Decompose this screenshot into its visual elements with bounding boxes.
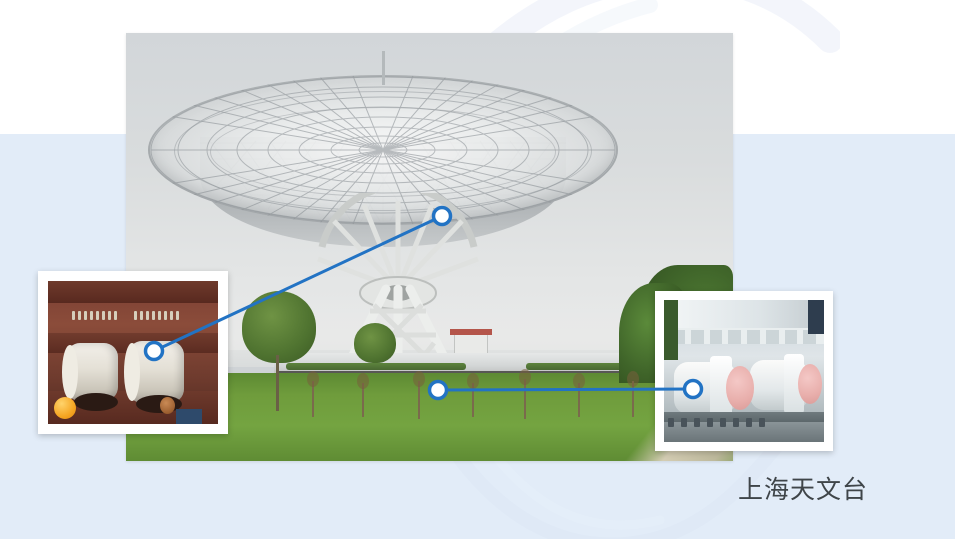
dish-inner-rim-2 <box>210 107 556 197</box>
feed-mast <box>382 51 385 85</box>
sapling-1 <box>312 381 314 417</box>
white-structure-top <box>664 300 824 330</box>
drive-unit-right-flange <box>124 343 140 401</box>
tree-trunk-left <box>276 355 279 411</box>
bolt-row-left <box>72 311 117 320</box>
bolt-row-right <box>134 311 179 320</box>
sky-sliver <box>808 300 824 334</box>
drive-unit-left-shadow <box>74 393 118 411</box>
sapling-2 <box>362 383 364 417</box>
slide-canvas: 上海天文台 <box>0 0 955 539</box>
control-hut-roof <box>450 329 492 335</box>
caption-text: 上海天文台 <box>738 470 868 506</box>
rust-beam-top <box>48 281 218 303</box>
sapling-4 <box>472 383 474 417</box>
callout-left-image <box>48 281 218 424</box>
worker-head <box>160 397 175 414</box>
sapling-5 <box>524 379 526 419</box>
callout-photo-right <box>655 291 833 451</box>
sapling-6 <box>578 383 580 417</box>
rail-bolt-row <box>664 418 824 428</box>
sapling-7 <box>632 381 634 417</box>
tree-large-left <box>242 291 316 363</box>
worker-clothing <box>176 409 202 424</box>
sapling-3 <box>418 381 420 419</box>
callout-photo-left <box>38 271 228 434</box>
foliage-left-edge <box>664 300 678 360</box>
pink-end-cap-right <box>798 364 822 404</box>
white-structure-ribs <box>672 330 816 344</box>
callout-right-image <box>664 300 824 442</box>
drive-unit-left-flange <box>62 345 78 399</box>
orange-marker-dot <box>54 397 76 419</box>
tree-small-mid <box>354 323 396 363</box>
pink-end-cap-left <box>726 366 754 410</box>
hedge-row-left <box>286 363 466 370</box>
